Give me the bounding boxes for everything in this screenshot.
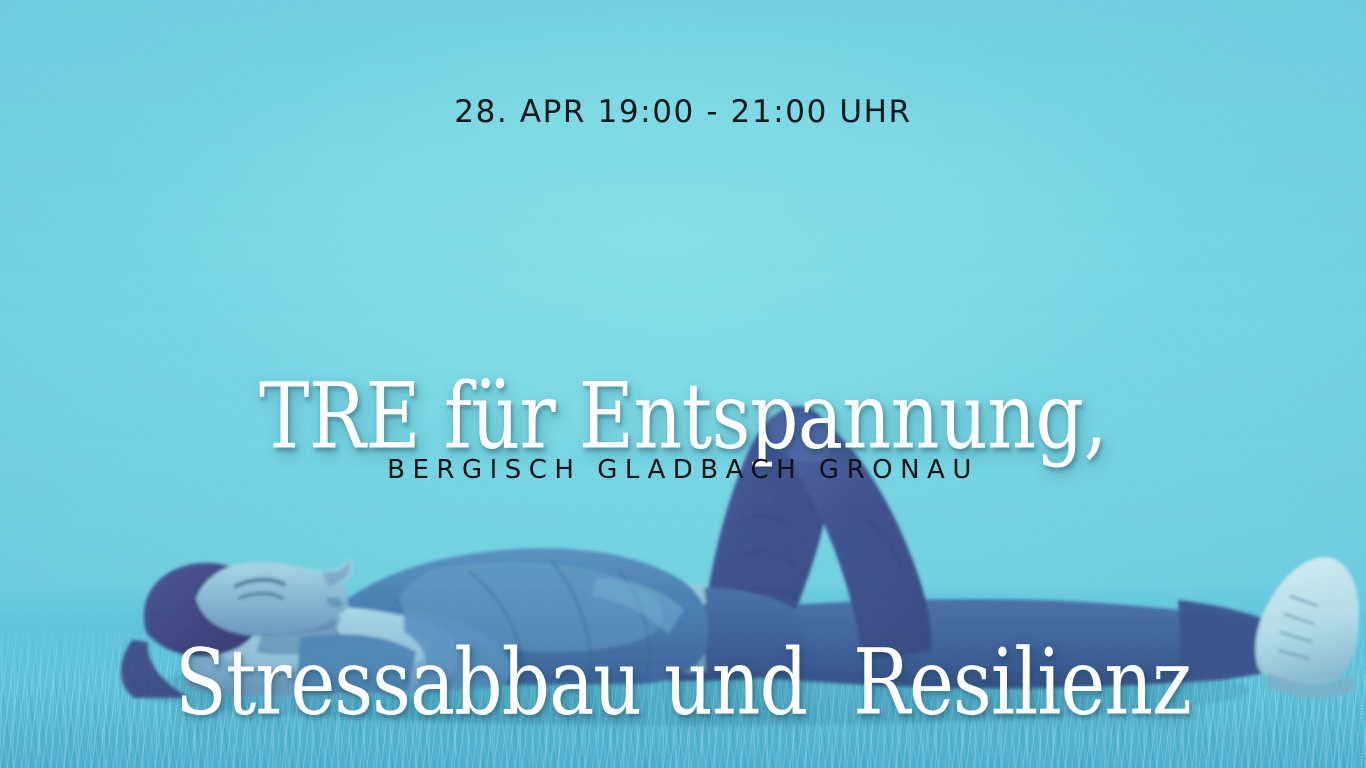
event-location: BERGISCH GLADBACH GRONAU (0, 455, 1366, 485)
event-poster: 28. APR 19:00 - 21:00 UHR TRE für Entspa… (0, 0, 1366, 768)
page-title-line-2: Stressabbau und Resilienz (20, 639, 1345, 728)
page-title-line-1: TRE für Entspannung, (20, 373, 1345, 462)
event-datetime: 28. APR 19:00 - 21:00 UHR (0, 94, 1366, 130)
poster-text: 28. APR 19:00 - 21:00 UHR TRE für Entspa… (0, 0, 1366, 768)
